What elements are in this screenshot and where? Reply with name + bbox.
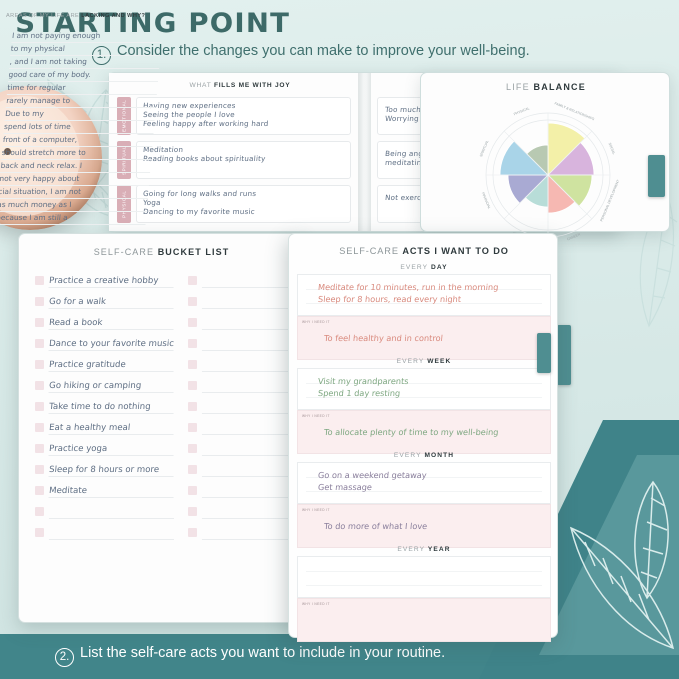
journal-life-balance: LIFE BALANCE FAMILY & RELATIONSHIPSSOCIA…: [420, 72, 670, 232]
elastic-band-right: [557, 325, 571, 385]
bucket-list-item-text: Go hiking or camping: [48, 381, 174, 393]
bucket-list-item[interactable]: [188, 309, 292, 330]
acts-entry-box[interactable]: [297, 556, 551, 598]
journal-bucket-list: SELF-CARE BUCKET LIST Practice a creativ…: [18, 233, 303, 623]
step-one-text: Consider the changes you can make to imp…: [117, 43, 530, 59]
bucket-list-item[interactable]: Dance to your favorite music: [35, 330, 174, 351]
bucket-list-item[interactable]: Meditate: [35, 477, 174, 498]
why-i-need-it-box[interactable]: WHY I NEED ITTo allocate plenty of time …: [297, 410, 551, 454]
bucket-list-item[interactable]: [188, 519, 292, 540]
why-i-need-it-label: WHY I NEED IT: [302, 414, 330, 418]
bucket-list-item-text: Practice a creative hobby: [48, 276, 174, 288]
acts-title-light: SELF-CARE: [339, 246, 402, 256]
bucket-list-item-text: [202, 475, 292, 477]
rule-line: [306, 585, 542, 586]
areas-lacking-line: , and I am not taking: [9, 56, 118, 69]
bucket-list-item-text: [202, 517, 292, 519]
checkbox-icon[interactable]: [35, 444, 44, 453]
acts-section: EVERY DAYMeditate for 10 minutes, run in…: [297, 264, 551, 360]
wheel-label: SOCIAL: [608, 142, 616, 155]
acts-label-light: EVERY: [397, 358, 428, 365]
bucket-list-column-right: [188, 267, 292, 614]
acts-section: EVERY MONTHGo on a weekend getawayGet ma…: [297, 452, 551, 548]
life-balance-title: LIFE BALANCE: [421, 82, 671, 92]
acts-entry-line: Spend 1 day resting: [317, 387, 530, 399]
joy-line: Dancing to my favorite music: [143, 208, 345, 217]
bucket-list-item-text: [202, 349, 292, 351]
bucket-list-item-text: [202, 538, 292, 540]
life-balance-title-bold: BALANCE: [534, 82, 586, 92]
bucket-list-title-bold: BUCKET LIST: [158, 247, 230, 257]
bucket-list-item[interactable]: [188, 351, 292, 372]
checkbox-icon[interactable]: [35, 486, 44, 495]
bucket-list-item-text: Sleep for 8 hours or more: [48, 465, 174, 477]
why-i-need-it-box[interactable]: WHY I NEED ITTo feel healthy and in cont…: [297, 316, 551, 360]
areas-lacking-line: as much money as I: [0, 199, 118, 212]
checkbox-icon[interactable]: [188, 486, 197, 495]
joy-entry-box[interactable]: MeditationReading books about spirituali…: [136, 141, 351, 179]
acts-entry-line: Go on a weekend getaway: [317, 469, 530, 481]
bucket-list-item[interactable]: [35, 498, 174, 519]
bucket-list-item-text: [49, 538, 174, 540]
areas-lacking-line: rarely manage to: [6, 95, 118, 108]
wheel-svg: FAMILY & RELATIONSHIPSSOCIALPERSONAL DEV…: [473, 100, 623, 250]
joy-title-light: WHAT: [190, 82, 214, 89]
bucket-list-item-text: Dance to your favorite music: [48, 339, 174, 351]
bucket-list-item-text: [202, 307, 292, 309]
bucket-list-item[interactable]: [188, 288, 292, 309]
checkbox-icon[interactable]: [35, 339, 44, 348]
areas-lacking-line: front of a computer,: [2, 134, 118, 147]
bucket-list-item[interactable]: Practice yoga: [35, 435, 174, 456]
bucket-list-item[interactable]: [35, 519, 174, 540]
checkbox-icon[interactable]: [188, 507, 197, 516]
bucket-list-item-text: [202, 286, 292, 288]
bucket-list-item[interactable]: [188, 372, 292, 393]
bucket-list-item-text: [202, 391, 292, 393]
acts-label-light: EVERY: [400, 264, 431, 271]
step-two-number: 2.: [55, 648, 74, 667]
joy-line: Feeling happy after working hard: [143, 120, 345, 129]
acts-label-bold: YEAR: [428, 546, 451, 553]
areas-lacking-line: Due to my: [5, 108, 118, 121]
bucket-list-item[interactable]: [188, 456, 292, 477]
bucket-list-item[interactable]: [188, 498, 292, 519]
step-two-caption: 2.List the self-care acts you want to in…: [55, 645, 445, 667]
bucket-list-item[interactable]: Go for a walk: [35, 288, 174, 309]
acts-section-label: EVERY YEAR: [297, 546, 551, 553]
checkbox-icon[interactable]: [188, 528, 197, 537]
acts-title-bold: ACTS I WANT TO DO: [402, 246, 509, 256]
acts-entry-line: Visit my grandparents: [317, 375, 530, 387]
checkbox-icon[interactable]: [188, 360, 197, 369]
joy-title-bold: FILLS ME WITH JOY: [214, 82, 291, 89]
joy-entry-box[interactable]: Having new experiencesSeeing the people …: [136, 97, 351, 135]
checkbox-icon[interactable]: [188, 402, 197, 411]
bucket-list-item[interactable]: Eat a healthy meal: [35, 414, 174, 435]
why-i-need-it-label: WHY I NEED IT: [302, 508, 330, 512]
bucket-list-item-text: Go for a walk: [48, 297, 174, 309]
bucket-list-item-text: [202, 433, 292, 435]
acts-entry-box[interactable]: Go on a weekend getawayGet massage: [297, 462, 551, 504]
areas-lacking-line: should stretch more to: [1, 147, 118, 160]
checkbox-icon[interactable]: [35, 402, 44, 411]
bucket-list-item[interactable]: [188, 477, 292, 498]
why-i-need-it-box[interactable]: WHY I NEED ITTo do more of what I love: [297, 504, 551, 548]
areas-lacking-title: AREAS OF MY LIFE ARE LACKING AND WHY?: [6, 12, 118, 20]
why-i-need-it-text: To allocate plenty of time to my well-be…: [324, 427, 525, 437]
why-i-need-it-box[interactable]: WHY I NEED IT: [297, 598, 551, 642]
elastic-band-middle: [537, 333, 551, 373]
checkbox-icon[interactable]: [188, 465, 197, 474]
checkbox-icon[interactable]: [188, 297, 197, 306]
joy-line: Going for long walks and runs: [143, 190, 345, 199]
rule-line: [306, 571, 542, 572]
why-i-need-it-label: WHY I NEED IT: [302, 320, 330, 324]
acts-entry-line: Get massage: [317, 481, 530, 493]
acts-label-light: EVERY: [397, 546, 428, 553]
acts-label-bold: DAY: [431, 264, 448, 271]
life-balance-title-light: LIFE: [506, 82, 534, 92]
checkbox-icon[interactable]: [188, 339, 197, 348]
acts-label-bold: MONTH: [424, 452, 454, 459]
areas-lacking-body: I am not paying enoughto my physical, an…: [0, 30, 118, 225]
bucket-list-item-text: [202, 328, 292, 330]
acts-entry-box[interactable]: Meditate for 10 minutes, run in the morn…: [297, 274, 551, 316]
bucket-list-item-text: Read a book: [48, 318, 174, 330]
wheel-label: SPIRITUAL: [479, 140, 489, 158]
areas-lacking-title-bold: LACKING AND WHY?: [81, 13, 118, 19]
checkbox-icon[interactable]: [188, 423, 197, 432]
bucket-list-item[interactable]: Practice a creative hobby: [35, 267, 174, 288]
acts-entry-line: Meditate for 10 minutes, run in the morn…: [317, 281, 530, 293]
checkbox-icon[interactable]: [35, 507, 44, 516]
checkbox-icon[interactable]: [35, 360, 44, 369]
checkbox-icon[interactable]: [188, 318, 197, 327]
life-balance-wheel: FAMILY & RELATIONSHIPSSOCIALPERSONAL DEV…: [473, 100, 623, 250]
areas-lacking-line: cial situation, I am not: [0, 186, 118, 199]
bucket-list-item[interactable]: Read a book: [35, 309, 174, 330]
step-two-text: List the self-care acts you want to incl…: [80, 645, 445, 661]
bucket-list-item[interactable]: Go hiking or camping: [35, 372, 174, 393]
bucket-list-item-text: Practice gratitude: [48, 360, 174, 372]
acts-section: EVERY YEARWHY I NEED IT: [297, 546, 551, 642]
bucket-list-item[interactable]: [188, 414, 292, 435]
areas-lacking-line: to my physical: [10, 43, 118, 56]
checkbox-icon[interactable]: [35, 528, 44, 537]
why-i-need-it-text: To feel healthy and in control: [324, 333, 525, 343]
acts-section-label: EVERY MONTH: [297, 452, 551, 459]
wheel-label: FINANCIAL: [481, 192, 492, 210]
bucket-list-item-text: Practice yoga: [48, 444, 174, 456]
acts-label-light: EVERY: [394, 452, 425, 459]
checkbox-icon[interactable]: [188, 444, 197, 453]
joy-line: Reading books about spirituality: [143, 155, 345, 164]
acts-entry-box[interactable]: Visit my grandparentsSpend 1 day resting: [297, 368, 551, 410]
areas-lacking-line: time for regular: [7, 82, 118, 95]
bucket-list-item[interactable]: [188, 393, 292, 414]
checkbox-icon[interactable]: [188, 381, 197, 390]
checkbox-icon[interactable]: [35, 423, 44, 432]
areas-lacking-line: back and neck relax. I: [0, 160, 118, 173]
acts-title: SELF-CARE ACTS I WANT TO DO: [289, 246, 559, 256]
bucket-list-item[interactable]: [188, 435, 292, 456]
bucket-list-column-left: Practice a creative hobbyGo for a walkRe…: [35, 267, 174, 614]
joy-row: PHYSICALGoing for long walks and runsYog…: [117, 185, 351, 223]
areas-lacking-title-light: AREAS OF MY LIFE ARE: [6, 13, 81, 19]
bucket-list-item[interactable]: Practice gratitude: [35, 351, 174, 372]
why-i-need-it-label: WHY I NEED IT: [302, 602, 330, 606]
checkbox-icon[interactable]: [35, 297, 44, 306]
checkbox-icon[interactable]: [35, 318, 44, 327]
areas-lacking-line: because I am still a: [0, 212, 118, 225]
checkbox-icon[interactable]: [35, 381, 44, 390]
areas-lacking-line: spend lots of time: [3, 121, 118, 134]
bucket-list-columns: Practice a creative hobbyGo for a walkRe…: [35, 267, 292, 614]
bucket-list-item[interactable]: [188, 267, 292, 288]
acts-entry-line: Sleep for 8 hours, read every night: [317, 293, 530, 305]
bucket-list-item[interactable]: [188, 330, 292, 351]
areas-lacking-line: good care of my body.: [8, 69, 118, 82]
why-i-need-it-text: To do more of what I love: [324, 521, 525, 531]
bucket-list-item-text: [202, 496, 292, 498]
joy-entry-box[interactable]: Going for long walks and runsYogaDancing…: [136, 185, 351, 223]
checkbox-icon[interactable]: [188, 276, 197, 285]
book-spine-top: [358, 73, 372, 231]
bucket-list-title-light: SELF-CARE: [94, 247, 158, 257]
bucket-list-item[interactable]: Take time to do nothing: [35, 393, 174, 414]
journal-self-care-acts: SELF-CARE ACTS I WANT TO DO EVERY DAYMed…: [288, 233, 558, 638]
wheel-label: FAMILY & RELATIONSHIPS: [554, 101, 596, 121]
acts-label-bold: WEEK: [427, 358, 451, 365]
bucket-list-title: SELF-CARE BUCKET LIST: [19, 247, 304, 257]
areas-lacking-line: I am not paying enough: [11, 30, 118, 43]
bucket-list-item-text: [49, 517, 174, 519]
acts-section-label: EVERY DAY: [297, 264, 551, 271]
areas-lacking-line: not very happy about: [0, 173, 118, 186]
bucket-list-item-text: Take time to do nothing: [48, 402, 174, 414]
acts-section-label: EVERY WEEK: [297, 358, 551, 365]
elastic-band-top: [648, 155, 665, 197]
bucket-list-item-text: Meditate: [48, 486, 174, 498]
checkbox-icon[interactable]: [35, 276, 44, 285]
bucket-list-item-text: [202, 454, 292, 456]
wheel-label: PERSONAL DEVELOPMENT: [599, 179, 620, 222]
checkbox-icon[interactable]: [35, 465, 44, 474]
bucket-list-item-text: [202, 412, 292, 414]
wheel-label: PHYSICAL: [513, 106, 530, 116]
acts-section: EVERY WEEKVisit my grandparentsSpend 1 d…: [297, 358, 551, 454]
bucket-list-item[interactable]: Sleep for 8 hours or more: [35, 456, 174, 477]
bucket-list-item-text: Eat a healthy meal: [48, 423, 174, 435]
bucket-list-item-text: [202, 370, 292, 372]
